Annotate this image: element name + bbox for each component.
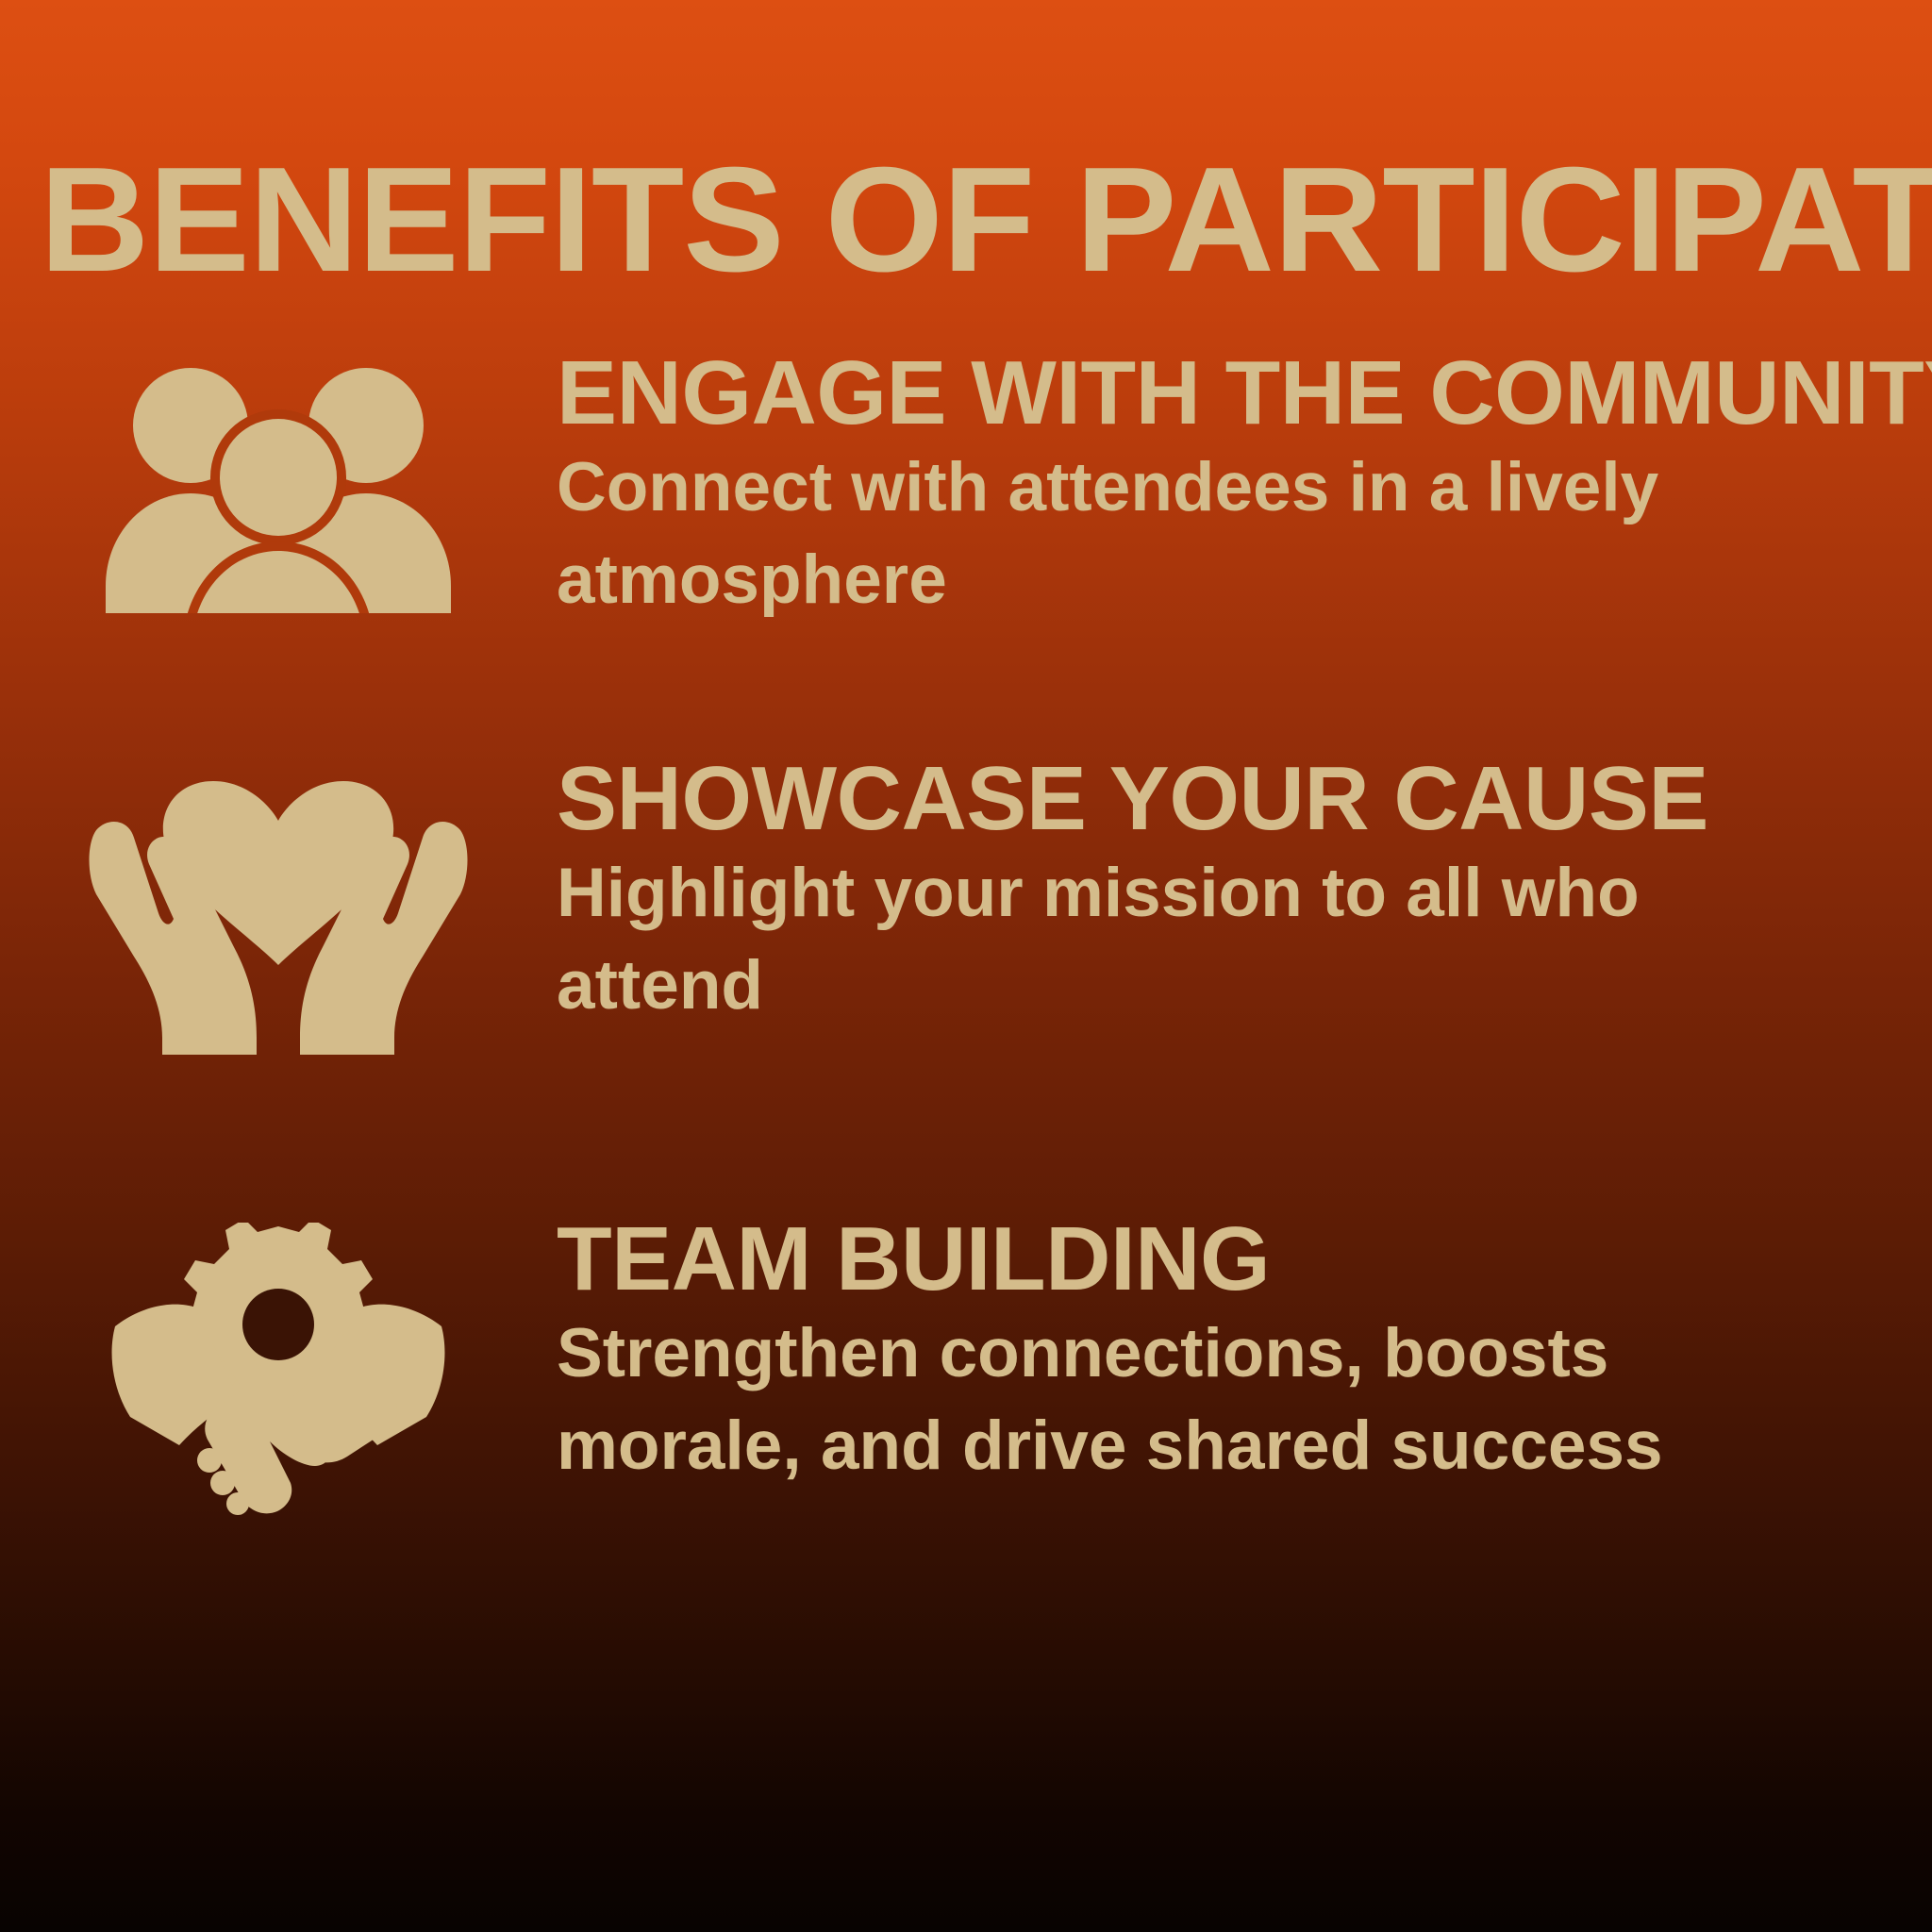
heart-in-hands-icon [75,762,481,1055]
page-title: BENEFITS OF PARTICIPATING [40,145,1932,294]
benefit-description: Strengthen connections, boosts morale, a… [557,1307,1811,1492]
benefit-title: TEAM BUILDING [557,1215,1904,1304]
benefit-row: ENGAGE WITH THE COMMUNITY Connect with a… [0,349,1932,626]
benefits-poster: BENEFITS OF PARTICIPATING [0,0,1932,1932]
benefit-title: SHOWCASE YOUR CAUSE [557,755,1904,843]
benefit-icon-cell [0,1215,557,1534]
benefit-icon-cell [0,349,557,613]
handshake-gear-icon [75,1223,481,1534]
benefit-description: Connect with attendees in a lively atmos… [557,441,1792,626]
benefit-row: SHOWCASE YOUR CAUSE Highlight your missi… [0,755,1932,1055]
benefit-row: TEAM BUILDING Strengthen connections, bo… [0,1215,1932,1534]
benefit-description: Highlight your mission to all who attend [557,847,1792,1032]
benefit-text-cell: TEAM BUILDING Strengthen connections, bo… [557,1215,1932,1492]
benefit-text-cell: ENGAGE WITH THE COMMUNITY Connect with a… [557,349,1932,626]
benefit-text-cell: SHOWCASE YOUR CAUSE Highlight your missi… [557,755,1932,1032]
people-group-icon [80,357,476,613]
benefit-icon-cell [0,755,557,1055]
benefit-title: ENGAGE WITH THE COMMUNITY [557,349,1932,438]
